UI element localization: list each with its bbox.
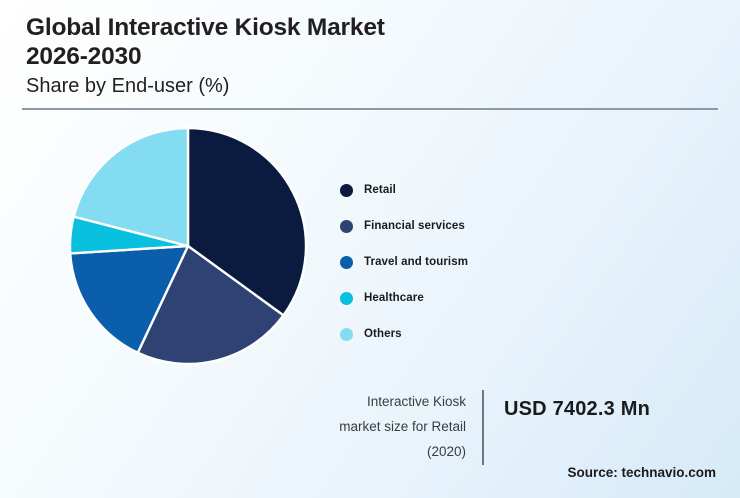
legend-item-others[interactable]: Others (340, 316, 570, 352)
header: Global Interactive Kiosk Market 2026-203… (26, 14, 714, 98)
legend-item-label: Retail (364, 184, 396, 196)
pie-chart (70, 128, 306, 364)
callout-description-line-1: Interactive Kiosk (300, 390, 466, 415)
legend-item-travel-and-tourism[interactable]: Travel and tourism (340, 244, 570, 280)
legend-swatch-icon-healthcare (340, 292, 353, 305)
header-divider (22, 108, 718, 110)
chart-legend: RetailFinancial servicesTravel and touri… (340, 172, 570, 352)
legend-item-financial-services[interactable]: Financial services (340, 208, 570, 244)
legend-swatch-icon-retail (340, 184, 353, 197)
legend-item-label: Financial services (364, 220, 465, 232)
infographic-root: Global Interactive Kiosk Market 2026-203… (0, 0, 740, 498)
callout-panel: Interactive Kiosk market size for Retail… (300, 390, 720, 465)
callout-description-line-2: market size for Retail (2020) (300, 415, 466, 465)
callout-description: Interactive Kiosk market size for Retail… (300, 390, 482, 465)
legend-item-retail[interactable]: Retail (340, 172, 570, 208)
callout-divider (482, 390, 484, 465)
callout-value: USD 7402.3 Mn (504, 390, 650, 421)
pie-chart-svg (70, 128, 306, 364)
legend-item-healthcare[interactable]: Healthcare (340, 280, 570, 316)
legend-item-label: Healthcare (364, 292, 424, 304)
legend-swatch-icon-others (340, 328, 353, 341)
legend-item-label: Travel and tourism (364, 256, 468, 268)
source-label: Source: technavio.com (567, 465, 716, 480)
page-subtitle: Share by End-user (%) (26, 75, 714, 98)
legend-swatch-icon-financial-services (340, 220, 353, 233)
page-title: Global Interactive Kiosk Market 2026-203… (26, 14, 714, 72)
legend-swatch-icon-travel-and-tourism (340, 256, 353, 269)
legend-item-label: Others (364, 328, 402, 340)
